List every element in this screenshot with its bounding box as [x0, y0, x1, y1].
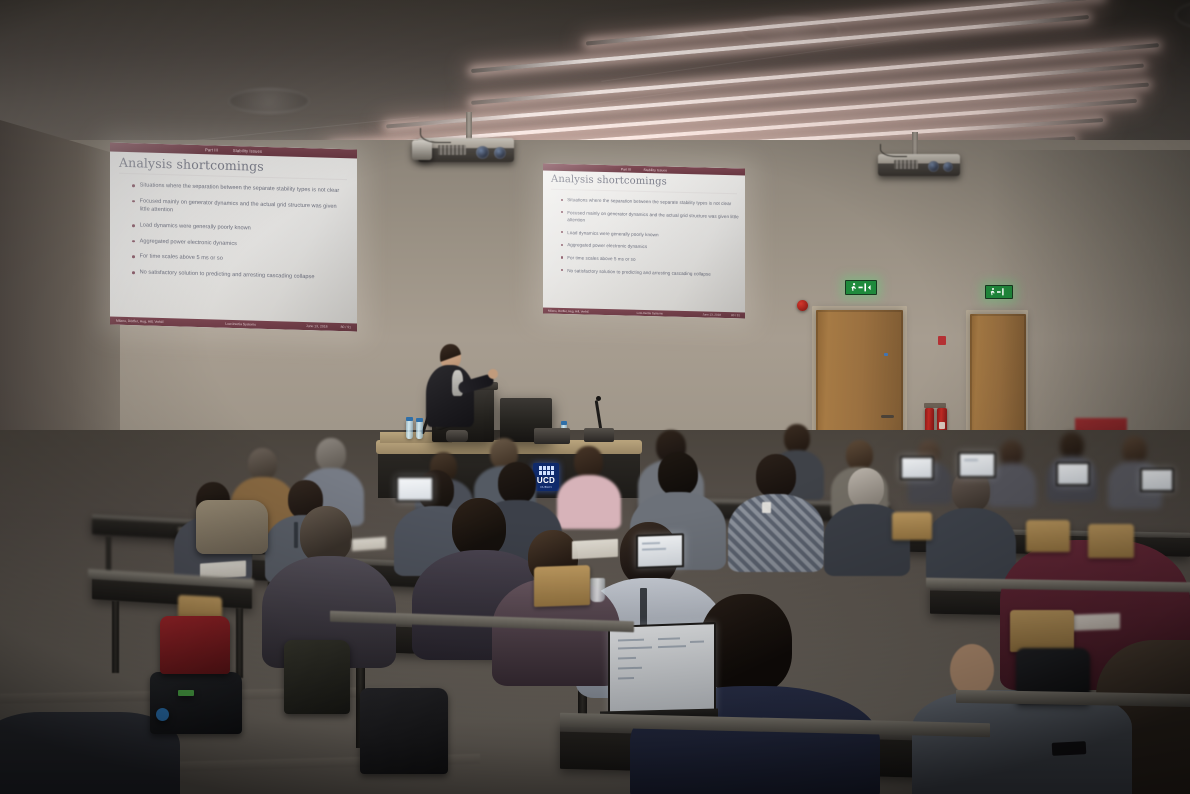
- audience-member-foreground: [452, 498, 506, 558]
- backpack-tag: [178, 690, 194, 696]
- smartphone[interactable]: [1052, 741, 1087, 756]
- paper-handout: [1072, 613, 1120, 631]
- ceiling-vent: [228, 88, 310, 114]
- projector-side-box: [412, 140, 432, 160]
- projector-mount: [466, 112, 472, 140]
- extinguisher-sign: [938, 336, 946, 345]
- audience-torso-check-shirt: [728, 494, 824, 572]
- audience-head: [846, 440, 873, 470]
- microphone-head: [596, 396, 601, 401]
- presenter: [418, 344, 508, 444]
- av-equipment-box: [584, 428, 614, 442]
- running-man-icon: [988, 287, 1010, 297]
- presenter-torso: [426, 365, 474, 427]
- audience-hand: [950, 644, 994, 696]
- laptop-text-line: [642, 542, 660, 544]
- coat-on-chair: [196, 500, 268, 554]
- av-equipment-box: [534, 428, 570, 444]
- audience-head: [452, 498, 506, 558]
- laptop-text-line: [618, 657, 636, 659]
- audience-member: [1060, 432, 1084, 459]
- ucd-logo-sign: UCD DUBLIN: [533, 463, 559, 491]
- projector-lens-icon: [943, 162, 953, 172]
- projector-lens-icon: [928, 161, 939, 172]
- audience-head: [658, 452, 698, 496]
- audience-member: [658, 452, 698, 496]
- laptop-text-line: [658, 637, 680, 639]
- audience-member-foreground: [300, 506, 352, 564]
- backpack-charm: [156, 708, 169, 721]
- presenter-hand: [488, 369, 498, 379]
- backpack: [150, 672, 242, 734]
- audience-head-grey: [316, 438, 346, 471]
- desk-leg: [112, 601, 119, 673]
- projector-vent: [894, 160, 918, 169]
- audience-torso: [926, 508, 1016, 584]
- laptop-text-line: [658, 645, 686, 647]
- fire-alarm-icon: [797, 300, 808, 311]
- emergency-exit-sign: [845, 280, 877, 295]
- laptop-text-line: [618, 639, 644, 641]
- laptop-text-line: [690, 641, 704, 643]
- audience-member: [756, 454, 796, 498]
- audience-member: [784, 424, 810, 453]
- laptop-display[interactable]: [608, 622, 716, 718]
- audience-member: [248, 448, 277, 480]
- audience-member: [574, 446, 603, 478]
- lecture-hall-photo: Part III Stability Issues Analysis short…: [0, 0, 1190, 794]
- audience-member: [1000, 440, 1023, 466]
- laptop-display[interactable]: [958, 452, 996, 478]
- chair-back: [1088, 524, 1134, 558]
- laptop-display[interactable]: [1140, 468, 1174, 492]
- ucd-logo-text: UCD: [537, 476, 555, 485]
- chair-back: [1010, 610, 1074, 652]
- audience-member: [846, 440, 873, 470]
- projector-mount: [912, 132, 918, 156]
- drinking-glass: [590, 578, 605, 602]
- projector-lens-icon: [476, 146, 489, 159]
- laptop-display[interactable]: [1056, 462, 1090, 486]
- extinguisher-label: [939, 422, 945, 429]
- ucd-crest-icon: [539, 466, 554, 475]
- laptop-display[interactable]: [636, 533, 684, 569]
- laptop-display[interactable]: [900, 456, 934, 480]
- laptop-text-line: [964, 459, 978, 461]
- running-man-icon: [848, 282, 874, 293]
- laptop-text-line: [618, 646, 652, 649]
- audience-head: [248, 448, 277, 480]
- projector-vent: [438, 145, 466, 155]
- audience-head: [1122, 436, 1147, 464]
- lanyard: [294, 522, 298, 548]
- audience-head: [784, 424, 810, 453]
- projector-lens-icon: [494, 147, 506, 159]
- ucd-logo-subtext: DUBLIN: [540, 485, 551, 489]
- chair-back: [892, 512, 932, 540]
- paper-handout: [352, 537, 386, 551]
- door-notice: [884, 353, 888, 356]
- audience-head: [574, 446, 603, 478]
- door-handle[interactable]: [881, 415, 894, 418]
- audience-member: [316, 438, 346, 471]
- screen-glare: [110, 143, 357, 332]
- projection-screen-left: Part III Stability Issues Analysis short…: [110, 143, 357, 332]
- paper-handout: [572, 539, 618, 559]
- backpack: [284, 640, 350, 714]
- audience-head-grey: [848, 468, 884, 508]
- desk-leg: [236, 608, 243, 678]
- bottle-cap: [561, 421, 567, 425]
- audience-head: [756, 454, 796, 498]
- backpack: [360, 688, 448, 774]
- laptop-text-line: [642, 548, 666, 550]
- conference-badge: [762, 502, 771, 513]
- chair-back: [534, 565, 590, 607]
- audience-torso-grey: [912, 690, 1132, 794]
- laptop-display[interactable]: [396, 476, 434, 502]
- emergency-exit-sign: [985, 285, 1013, 299]
- backpack-red: [160, 616, 230, 674]
- laptop-text-line: [618, 677, 634, 679]
- audience-member: [848, 468, 884, 508]
- laptop-text-line: [618, 667, 642, 669]
- audience-head: [1060, 432, 1084, 459]
- bottle-cap: [406, 417, 413, 421]
- water-bottle: [406, 420, 413, 439]
- screen-glare: [543, 164, 745, 319]
- chair-back: [1026, 520, 1070, 552]
- projection-screen-right: Part III Stability Issues Analysis short…: [543, 164, 745, 319]
- audience-member: [1122, 436, 1147, 464]
- audience-torso: [557, 475, 621, 529]
